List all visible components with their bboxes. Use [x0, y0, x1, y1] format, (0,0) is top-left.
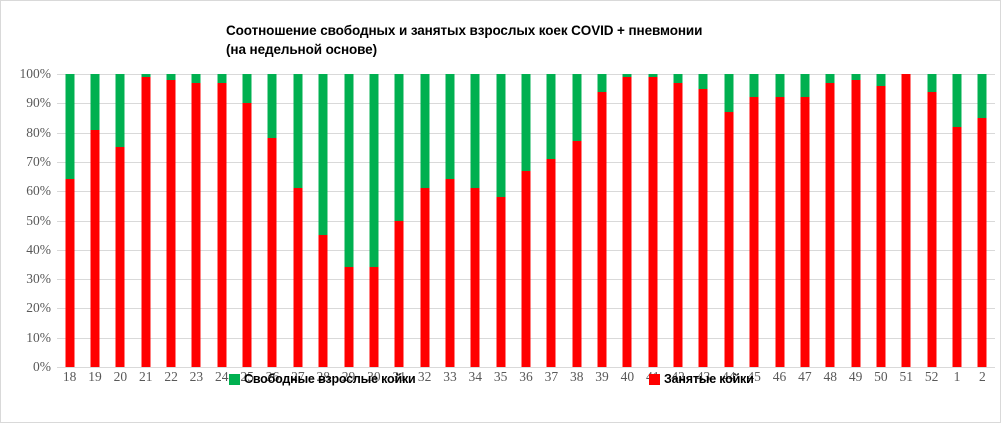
bar-slot[interactable] — [868, 74, 893, 367]
bar-segment-free-beds[interactable] — [952, 74, 961, 127]
stacked-bar[interactable] — [674, 74, 683, 367]
bar-slot[interactable] — [361, 74, 386, 367]
bar-segment-free-beds[interactable] — [496, 74, 505, 197]
stacked-bar[interactable] — [902, 74, 911, 367]
x-axis-tick-label: 50 — [874, 369, 888, 385]
bar-slot[interactable] — [311, 74, 336, 367]
legend-swatch-busy-icon — [649, 374, 660, 385]
x-axis-tick-label: 1 — [954, 369, 961, 385]
bar-segment-free-beds[interactable] — [293, 74, 302, 188]
stacked-bar[interactable] — [445, 74, 454, 367]
x-axis-tick-label: 49 — [849, 369, 863, 385]
bar-segment-free-beds[interactable] — [243, 74, 252, 103]
x-axis-tick-label: 37 — [545, 369, 559, 385]
stacked-bar[interactable] — [648, 74, 657, 367]
y-axis-tick-label: 40% — [7, 242, 51, 258]
bar-segment-busy-beds[interactable] — [395, 221, 404, 368]
bar-segment-free-beds[interactable] — [268, 74, 277, 138]
bar-segment-busy-beds[interactable] — [927, 92, 936, 367]
stacked-bar[interactable] — [547, 74, 556, 367]
bar-segment-busy-beds[interactable] — [623, 77, 632, 367]
bar-segment-busy-beds[interactable] — [217, 83, 226, 367]
bar-slot[interactable] — [133, 74, 158, 367]
bar-slot[interactable] — [843, 74, 868, 367]
bar-slot[interactable] — [513, 74, 538, 367]
bar-segment-free-beds[interactable] — [471, 74, 480, 188]
bar-segment-free-beds[interactable] — [395, 74, 404, 221]
x-axis-tick-label: 36 — [519, 369, 533, 385]
x-axis-tick-label: 46 — [773, 369, 787, 385]
bar-segment-busy-beds[interactable] — [978, 118, 987, 367]
stacked-bar[interactable] — [927, 74, 936, 367]
gridline — [57, 367, 995, 368]
bar-slot[interactable] — [919, 74, 944, 367]
bar-segment-free-beds[interactable] — [547, 74, 556, 159]
bar-segment-busy-beds[interactable] — [268, 138, 277, 367]
stacked-bar[interactable] — [775, 74, 784, 367]
y-axis-tick-label: 0% — [7, 359, 51, 375]
stacked-bar[interactable] — [420, 74, 429, 367]
bar-segment-free-beds[interactable] — [699, 74, 708, 89]
stacked-bar[interactable] — [598, 74, 607, 367]
bar-segment-free-beds[interactable] — [521, 74, 530, 171]
y-axis-tick-label: 20% — [7, 300, 51, 316]
bar-slot[interactable] — [665, 74, 690, 367]
bar-segment-free-beds[interactable] — [826, 74, 835, 83]
x-axis-tick-label: 48 — [823, 369, 837, 385]
bar-slot[interactable] — [412, 74, 437, 367]
y-axis-tick-label: 50% — [7, 213, 51, 229]
bar-segment-busy-beds[interactable] — [775, 97, 784, 367]
bar-segment-busy-beds[interactable] — [496, 197, 505, 367]
bar-segment-free-beds[interactable] — [445, 74, 454, 179]
bar-segment-busy-beds[interactable] — [445, 179, 454, 367]
y-axis-tick-label: 10% — [7, 330, 51, 346]
bar-segment-free-beds[interactable] — [344, 74, 353, 267]
stacked-bar[interactable] — [826, 74, 835, 367]
bar-slot[interactable] — [944, 74, 969, 367]
bar-segment-busy-beds[interactable] — [243, 103, 252, 367]
bar-slot[interactable] — [589, 74, 614, 367]
stacked-bar[interactable] — [496, 74, 505, 367]
bar-slot[interactable] — [716, 74, 741, 367]
x-axis-tick-label: 23 — [190, 369, 204, 385]
stacked-bar[interactable] — [724, 74, 733, 367]
bar-slot[interactable] — [209, 74, 234, 367]
bars-layer — [57, 74, 995, 367]
x-axis-tick-label: 32 — [418, 369, 432, 385]
bar-segment-busy-beds[interactable] — [572, 141, 581, 367]
bar-segment-free-beds[interactable] — [927, 74, 936, 92]
x-axis-tick-label: 33 — [443, 369, 457, 385]
y-axis-tick-label: 90% — [7, 95, 51, 111]
x-axis-tick-label: 22 — [164, 369, 178, 385]
stacked-bar[interactable] — [978, 74, 987, 367]
stacked-bar[interactable] — [471, 74, 480, 367]
bar-slot[interactable] — [463, 74, 488, 367]
bar-segment-busy-beds[interactable] — [902, 74, 911, 367]
stacked-bar[interactable] — [851, 74, 860, 367]
stacked-bar[interactable] — [521, 74, 530, 367]
x-axis-tick-label: 38 — [570, 369, 584, 385]
bar-segment-busy-beds[interactable] — [547, 159, 556, 367]
y-axis-tick-label: 70% — [7, 154, 51, 170]
bar-segment-busy-beds[interactable] — [319, 235, 328, 367]
x-axis-tick-label: 51 — [900, 369, 914, 385]
stacked-bar[interactable] — [876, 74, 885, 367]
stacked-bar[interactable] — [217, 74, 226, 367]
bar-segment-free-beds[interactable] — [91, 74, 100, 130]
bar-slot[interactable] — [894, 74, 919, 367]
bar-segment-busy-beds[interactable] — [116, 147, 125, 367]
bar-segment-busy-beds[interactable] — [293, 188, 302, 367]
bar-slot[interactable] — [564, 74, 589, 367]
x-axis-tick-label: 18 — [63, 369, 77, 385]
stacked-bar[interactable] — [268, 74, 277, 367]
bar-segment-busy-beds[interactable] — [141, 77, 150, 367]
stacked-bar[interactable] — [572, 74, 581, 367]
bar-segment-free-beds[interactable] — [750, 74, 759, 97]
y-axis: 0%10%20%30%40%50%60%70%80%90%100% — [1, 74, 51, 367]
bar-segment-free-beds[interactable] — [800, 74, 809, 97]
bar-segment-free-beds[interactable] — [775, 74, 784, 97]
chart-title: Соотношение свободных и занятых взрослых… — [226, 21, 846, 59]
bar-slot[interactable] — [108, 74, 133, 367]
bar-segment-busy-beds[interactable] — [674, 83, 683, 367]
bar-segment-busy-beds[interactable] — [167, 80, 176, 367]
bar-segment-busy-beds[interactable] — [800, 97, 809, 367]
bar-segment-busy-beds[interactable] — [750, 97, 759, 367]
bar-segment-free-beds[interactable] — [674, 74, 683, 83]
bar-segment-busy-beds[interactable] — [192, 83, 201, 367]
x-axis-tick-label: 2 — [979, 369, 986, 385]
bar-slot[interactable] — [767, 74, 792, 367]
x-axis-tick-label: 20 — [114, 369, 128, 385]
bar-segment-free-beds[interactable] — [192, 74, 201, 83]
bar-slot[interactable] — [57, 74, 82, 367]
legend-item-busy-beds[interactable]: Занятые койки — [649, 372, 754, 386]
bar-segment-busy-beds[interactable] — [851, 80, 860, 367]
bar-slot[interactable] — [741, 74, 766, 367]
stacked-bar[interactable] — [344, 74, 353, 367]
bar-slot[interactable] — [488, 74, 513, 367]
bar-segment-busy-beds[interactable] — [344, 267, 353, 367]
stacked-bar[interactable] — [952, 74, 961, 367]
stacked-bar[interactable] — [369, 74, 378, 367]
bar-slot[interactable] — [970, 74, 995, 367]
stacked-bar[interactable] — [319, 74, 328, 367]
bar-segment-free-beds[interactable] — [724, 74, 733, 112]
x-axis-tick-label: 34 — [469, 369, 483, 385]
bar-slot[interactable] — [818, 74, 843, 367]
bar-segment-busy-beds[interactable] — [420, 188, 429, 367]
bar-slot[interactable] — [260, 74, 285, 367]
stacked-bar[interactable] — [395, 74, 404, 367]
bar-slot[interactable] — [336, 74, 361, 367]
chart-container: Соотношение свободных и занятых взрослых… — [0, 0, 1001, 423]
bar-slot[interactable] — [184, 74, 209, 367]
bar-slot[interactable] — [691, 74, 716, 367]
x-axis-tick-label: 40 — [621, 369, 635, 385]
bar-segment-busy-beds[interactable] — [369, 267, 378, 367]
bar-segment-busy-beds[interactable] — [65, 179, 74, 367]
bar-slot[interactable] — [792, 74, 817, 367]
bar-segment-busy-beds[interactable] — [724, 112, 733, 367]
x-axis-tick-label: 47 — [798, 369, 812, 385]
bar-segment-free-beds[interactable] — [598, 74, 607, 92]
bar-slot[interactable] — [234, 74, 259, 367]
bar-segment-free-beds[interactable] — [876, 74, 885, 86]
bar-segment-busy-beds[interactable] — [826, 83, 835, 367]
stacked-bar[interactable] — [65, 74, 74, 367]
y-axis-tick-label: 100% — [7, 66, 51, 82]
y-axis-tick-label: 80% — [7, 125, 51, 141]
stacked-bar[interactable] — [293, 74, 302, 367]
bar-slot[interactable] — [387, 74, 412, 367]
bar-segment-busy-beds[interactable] — [648, 77, 657, 367]
bar-segment-busy-beds[interactable] — [598, 92, 607, 367]
bar-segment-busy-beds[interactable] — [471, 188, 480, 367]
bar-slot[interactable] — [82, 74, 107, 367]
bar-segment-busy-beds[interactable] — [699, 89, 708, 367]
stacked-bar[interactable] — [192, 74, 201, 367]
bar-slot[interactable] — [539, 74, 564, 367]
stacked-bar[interactable] — [141, 74, 150, 367]
bar-segment-free-beds[interactable] — [369, 74, 378, 267]
bar-segment-free-beds[interactable] — [65, 74, 74, 179]
bar-segment-free-beds[interactable] — [978, 74, 987, 118]
bar-segment-free-beds[interactable] — [217, 74, 226, 83]
x-axis: 1819202122232425262728293031323334353637… — [57, 369, 995, 391]
bar-slot[interactable] — [640, 74, 665, 367]
stacked-bar[interactable] — [116, 74, 125, 367]
legend-swatch-free-icon — [229, 374, 240, 385]
x-axis-tick-label: 35 — [494, 369, 508, 385]
bar-segment-free-beds[interactable] — [420, 74, 429, 188]
y-axis-tick-label: 60% — [7, 183, 51, 199]
bar-segment-free-beds[interactable] — [572, 74, 581, 141]
bar-segment-free-beds[interactable] — [116, 74, 125, 147]
x-axis-tick-label: 52 — [925, 369, 939, 385]
bar-segment-busy-beds[interactable] — [521, 171, 530, 367]
stacked-bar[interactable] — [167, 74, 176, 367]
bar-segment-busy-beds[interactable] — [91, 130, 100, 367]
stacked-bar[interactable] — [800, 74, 809, 367]
x-axis-tick-label: 21 — [139, 369, 153, 385]
x-axis-tick-label: 24 — [215, 369, 229, 385]
x-axis-tick-label: 39 — [595, 369, 609, 385]
stacked-bar[interactable] — [623, 74, 632, 367]
legend-label-free-beds: Свободные взрослые койки — [244, 372, 416, 386]
x-axis-tick-label: 19 — [88, 369, 102, 385]
bar-segment-busy-beds[interactable] — [952, 127, 961, 367]
stacked-bar[interactable] — [243, 74, 252, 367]
y-axis-tick-label: 30% — [7, 271, 51, 287]
legend-label-busy-beds: Занятые койки — [664, 372, 754, 386]
bar-slot[interactable] — [615, 74, 640, 367]
bar-slot[interactable] — [437, 74, 462, 367]
stacked-bar[interactable] — [750, 74, 759, 367]
legend-item-free-beds[interactable]: Свободные взрослые койки — [229, 372, 416, 386]
stacked-bar[interactable] — [699, 74, 708, 367]
bar-segment-free-beds[interactable] — [319, 74, 328, 235]
stacked-bar[interactable] — [91, 74, 100, 367]
bar-segment-busy-beds[interactable] — [876, 86, 885, 367]
bar-slot[interactable] — [158, 74, 183, 367]
bar-slot[interactable] — [285, 74, 310, 367]
